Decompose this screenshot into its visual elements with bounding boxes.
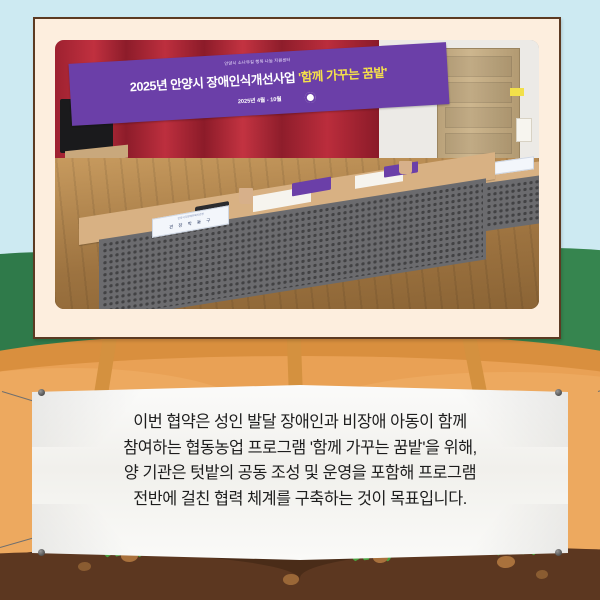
caption-text-block: 이번 협약은 성인 발달 장애인과 비장애 아동이 함께 참여하는 협동농업 프… [54, 410, 546, 512]
card-slide: 안양시 소나무길 행복 나눔 지원센터 2025년 안양시 장애인식개선사업 '… [0, 0, 600, 600]
photo-cup-left [239, 188, 254, 204]
banner-grommet-top-left [38, 389, 45, 396]
caption-line-4: 전반에 걸친 협력 체계를 구축하는 것이 목표입니다. [54, 487, 546, 513]
cloth-crease [438, 504, 568, 560]
photo-frame: 안양시 소나무길 행복 나눔 지원센터 2025년 안양시 장애인식개선사업 '… [33, 17, 561, 339]
photo-banner-title-highlight: '함께 가꾸는 꿈밭' [297, 66, 387, 85]
caption-banner: 이번 협약은 성인 발달 장애인과 비장애 아동이 함께 참여하는 협동농업 프… [32, 385, 568, 560]
photo-door [437, 48, 519, 166]
event-photo: 안양시 소나무길 행복 나눔 지원센터 2025년 안양시 장애인식개선사업 '… [55, 40, 539, 309]
photo-door-notice [516, 118, 532, 142]
cloth-crease [32, 504, 162, 560]
caption-line-3: 양 기관은 텃밭의 공동 조성 및 운영을 포함해 프로그램 [54, 461, 546, 487]
photo-cup-right [399, 161, 413, 174]
photo-banner-title-main: 2025년 안양시 장애인식개선사업 [129, 71, 295, 95]
photo-door-sign-yellow [510, 88, 524, 96]
banner-grommet-bottom-left [38, 549, 45, 556]
caption-line-2: 참여하는 협동농업 프로그램 '함께 가꾸는 꿈밭'을 위해, [54, 436, 546, 462]
banner-grommet-top-right [555, 389, 562, 396]
caption-line-1: 이번 협약은 성인 발달 장애인과 비장애 아동이 함께 [54, 410, 546, 436]
banner-grommet-bottom-right [555, 549, 562, 556]
photo-banner-logo-icon [304, 92, 316, 104]
